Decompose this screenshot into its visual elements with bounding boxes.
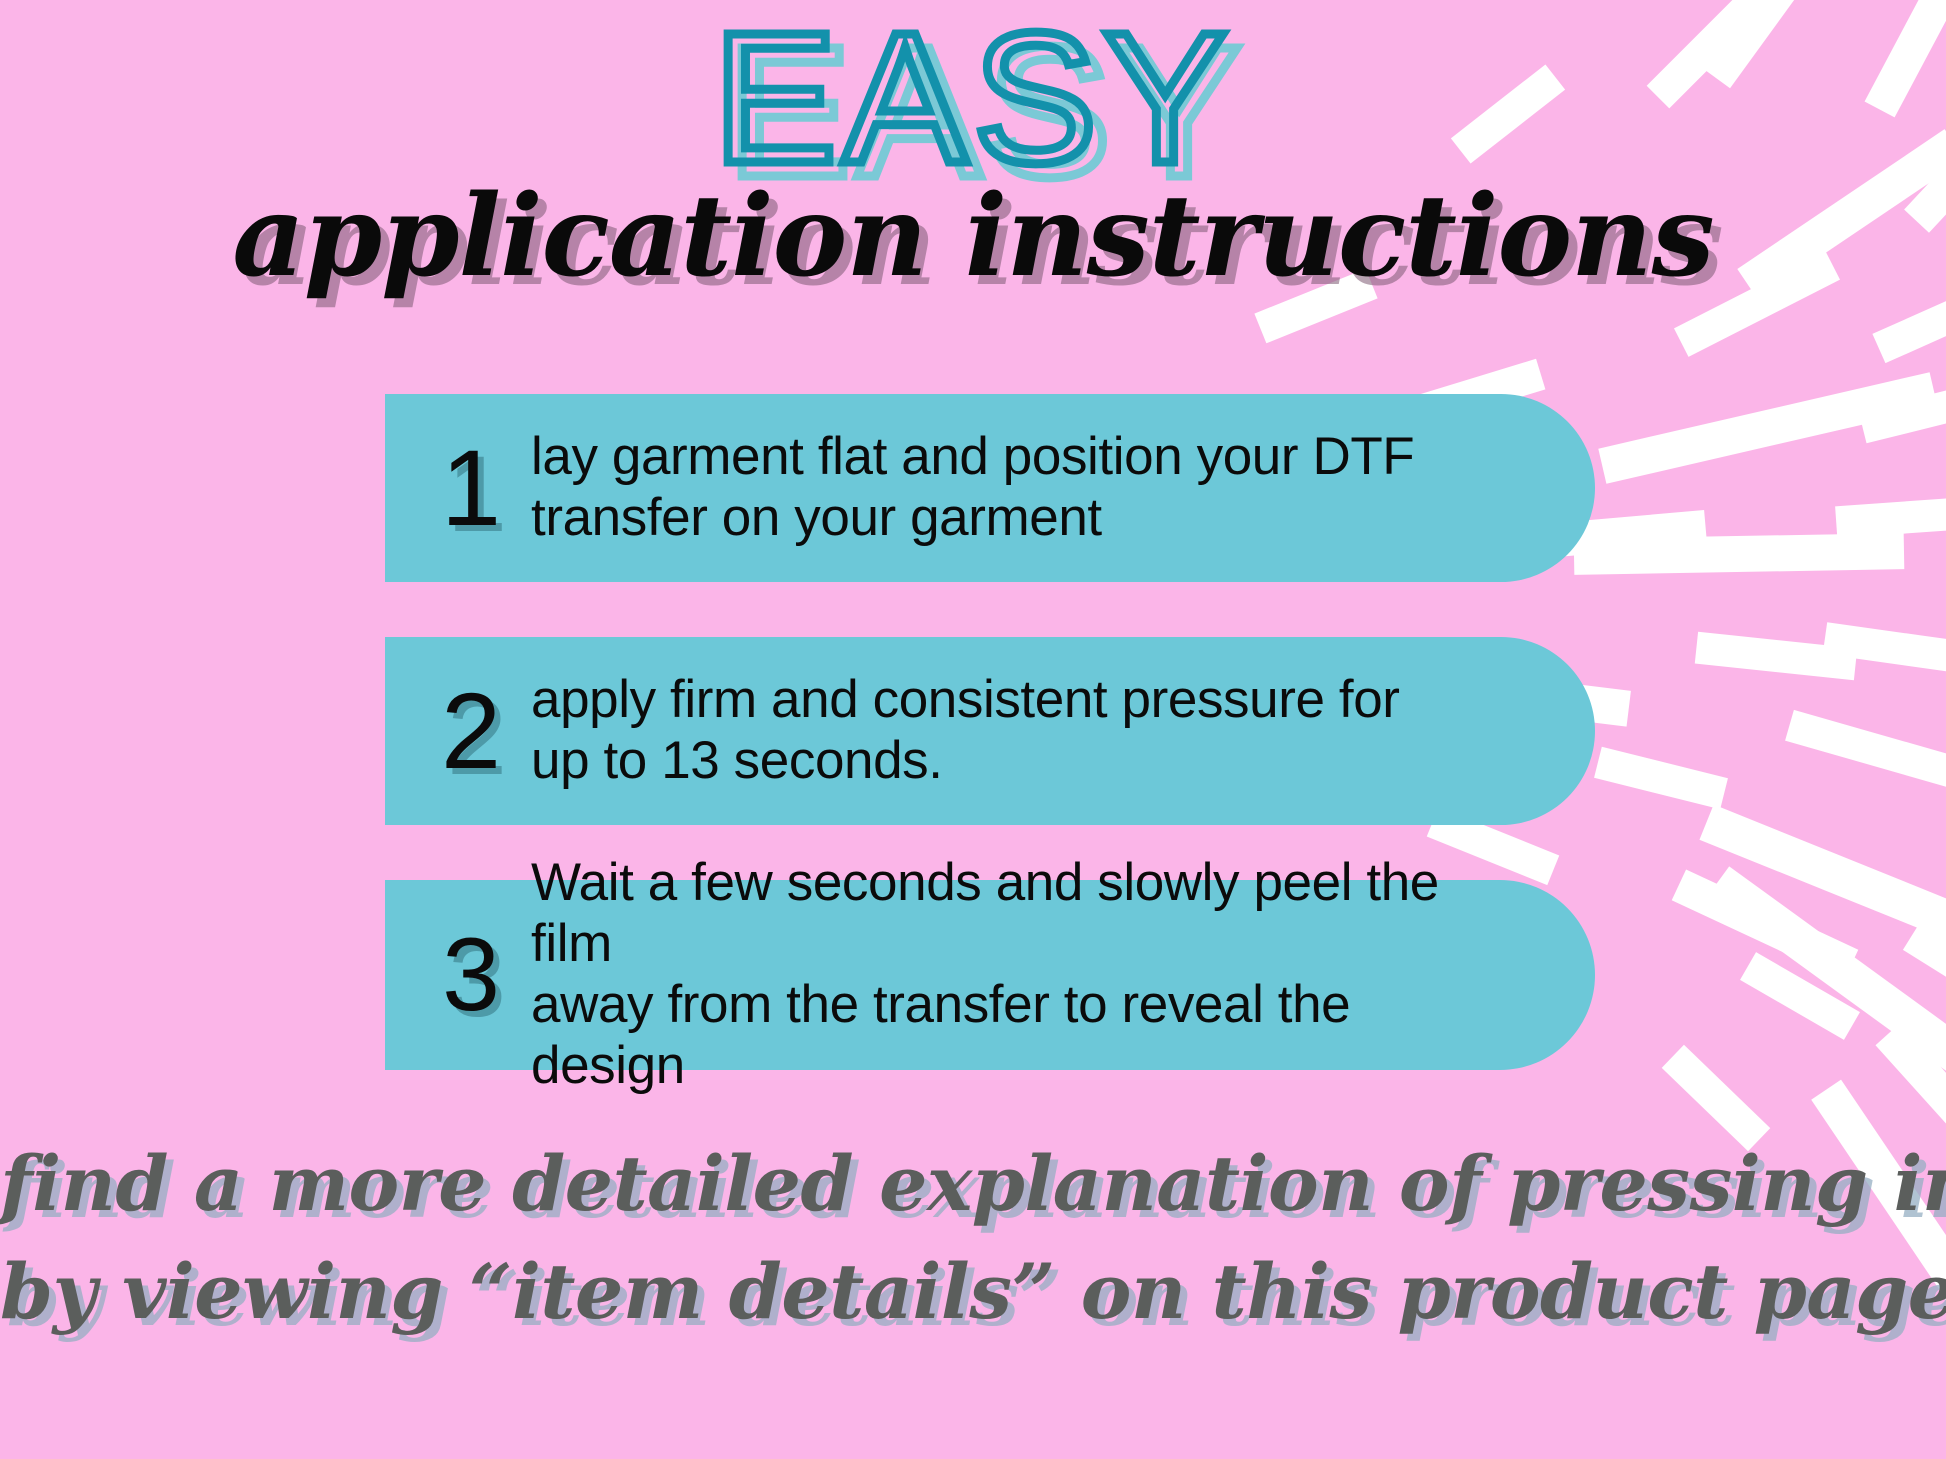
page-subtitle: application instructions	[0, 178, 1946, 296]
step-text-3-line1: Wait a few seconds and slowly peel the f…	[531, 853, 1439, 973]
step-item-1: 1 lay garment flat and position your DTF…	[385, 394, 1595, 582]
step-text-2-line1: apply firm and consistent pressure for	[531, 670, 1400, 729]
footer-note-line1: find a more detailed explanation of pres…	[0, 1130, 1946, 1238]
step-number-2: 2	[425, 677, 517, 785]
easy-title-main-layer: EASY	[713, 6, 1233, 192]
step-item-2: 2 apply firm and consistent pressure for…	[385, 637, 1595, 825]
step-number-1: 1	[425, 434, 517, 542]
step-item-3: 3 Wait a few seconds and slowly peel the…	[385, 880, 1595, 1070]
step-text-1-line2: transfer on your garment	[531, 488, 1475, 549]
page-subtitle-text: application instructions	[232, 178, 1713, 296]
step-text-3-line2: away from the transfer to reveal the des…	[531, 975, 1475, 1097]
step-number-3: 3	[425, 923, 517, 1027]
step-text-2: apply firm and consistent pressure for u…	[517, 670, 1475, 792]
footer-note: find a more detailed explanation of pres…	[0, 1130, 1946, 1346]
footer-note-line2: by viewing “item details” on this produc…	[0, 1238, 1946, 1346]
page-title-easy: EASY EASY	[0, 6, 1946, 192]
step-text-1: lay garment flat and position your DTF t…	[517, 427, 1475, 549]
step-text-1-line1: lay garment flat and position your DTF	[531, 427, 1414, 486]
step-text-3: Wait a few seconds and slowly peel the f…	[517, 853, 1475, 1097]
poster-canvas: EASY EASY application instructions 1 lay…	[0, 0, 1946, 1459]
step-text-2-line2: up to 13 seconds.	[531, 731, 1475, 792]
steps-list: 1 lay garment flat and position your DTF…	[385, 394, 1595, 1070]
